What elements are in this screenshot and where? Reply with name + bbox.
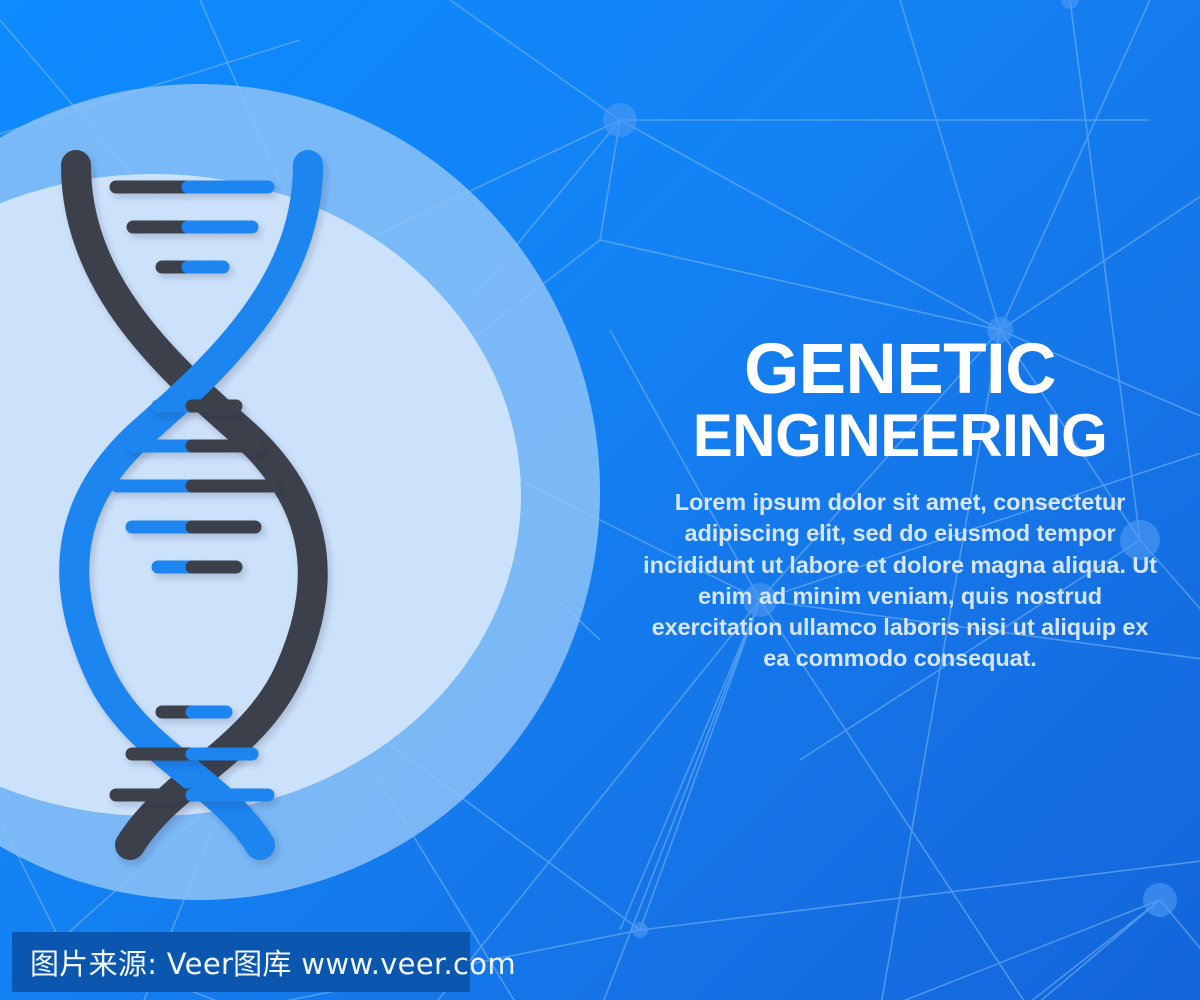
dna-helix-illustration: [40, 130, 350, 875]
watermark-label: 图片来源: Veer图库 www.veer.com: [12, 941, 516, 983]
dna-rung-group-top: [116, 187, 268, 267]
page-title-line-2: ENGINEERING: [620, 407, 1180, 465]
text-content-block: GENETIC ENGINEERING Lorem ipsum dolor si…: [620, 336, 1180, 698]
body-paragraph: Lorem ipsum dolor sit amet, consectetur …: [620, 487, 1180, 675]
banner-canvas: GENETIC ENGINEERING Lorem ipsum dolor si…: [0, 0, 1200, 1000]
watermark-bar: 图片来源: Veer图库 www.veer.com: [12, 932, 470, 992]
page-title-line-1: GENETIC: [620, 336, 1180, 405]
